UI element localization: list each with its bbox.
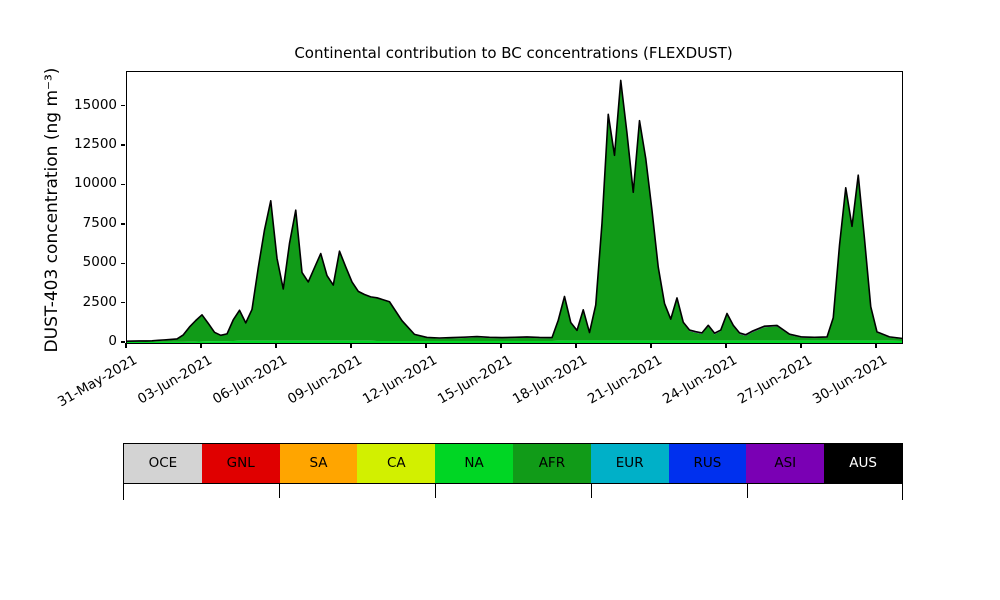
stacked-area-plot bbox=[127, 72, 902, 343]
legend-frame-bottom bbox=[123, 484, 903, 500]
area-band-asi bbox=[127, 81, 902, 342]
legend-tick-mark bbox=[279, 484, 280, 498]
legend-tick-mark bbox=[747, 484, 748, 498]
legend-item-label: CA bbox=[387, 457, 406, 471]
legend-item-sa[interactable]: SA bbox=[280, 444, 358, 483]
legend-tick-mark bbox=[435, 484, 436, 498]
area-band-eur bbox=[127, 81, 902, 342]
continent-legend-colorbar[interactable]: OCEGNLSACANAAFREURRUSASIAUS bbox=[123, 443, 903, 484]
legend-item-afr[interactable]: AFR bbox=[513, 444, 591, 483]
legend-item-ca[interactable]: CA bbox=[357, 444, 435, 483]
legend-item-na[interactable]: NA bbox=[435, 444, 513, 483]
legend-item-asi[interactable]: ASI bbox=[746, 444, 824, 483]
legend-item-label: NA bbox=[464, 457, 483, 471]
x-tick-mark bbox=[650, 343, 651, 348]
figure-canvas: Continental contribution to BC concentra… bbox=[0, 0, 1000, 600]
legend-item-label: GNL bbox=[227, 457, 255, 471]
area-band-afr bbox=[127, 81, 902, 342]
x-tick-mark bbox=[425, 343, 426, 348]
legend-item-oce[interactable]: OCE bbox=[124, 444, 202, 483]
x-tick-mark bbox=[125, 343, 126, 348]
x-tick-mark bbox=[350, 343, 351, 348]
area-band-oce bbox=[127, 80, 902, 341]
x-tick-mark bbox=[575, 343, 576, 348]
legend-item-label: AFR bbox=[539, 457, 565, 471]
legend-item-label: OCE bbox=[149, 457, 178, 471]
legend-item-aus[interactable]: AUS bbox=[824, 444, 902, 483]
plot-area bbox=[126, 71, 903, 344]
area-band-ca bbox=[127, 81, 902, 342]
legend-item-label: RUS bbox=[694, 457, 722, 471]
legend-item-label: SA bbox=[309, 457, 327, 471]
total-concentration-outline bbox=[127, 80, 902, 341]
x-tick-mark bbox=[500, 343, 501, 348]
area-band-na bbox=[127, 341, 902, 343]
x-tick-mark bbox=[275, 343, 276, 348]
x-tick-mark bbox=[200, 343, 201, 348]
legend-item-label: EUR bbox=[616, 457, 644, 471]
legend-tick-mark bbox=[591, 484, 592, 498]
legend-item-label: AUS bbox=[849, 457, 877, 471]
x-tick-mark bbox=[875, 343, 876, 348]
legend-item-rus[interactable]: RUS bbox=[669, 444, 747, 483]
legend-item-eur[interactable]: EUR bbox=[591, 444, 669, 483]
x-tick-mark bbox=[725, 343, 726, 348]
legend-item-gnl[interactable]: GNL bbox=[202, 444, 280, 483]
x-tick-mark bbox=[800, 343, 801, 348]
legend-item-label: ASI bbox=[774, 457, 796, 471]
